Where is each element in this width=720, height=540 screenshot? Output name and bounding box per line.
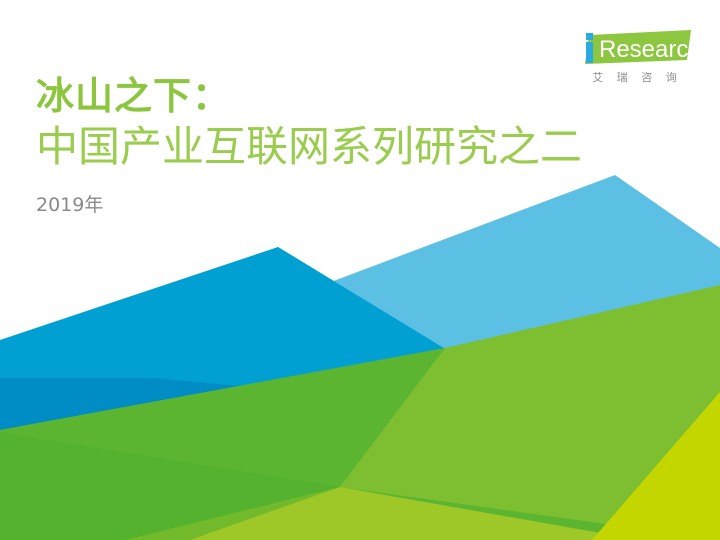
slide-root: Research 艾 瑞 咨 询 冰山之下： 中国产业互联网系列研究之二 201… (0, 0, 720, 540)
logo-wordmark: Research (599, 36, 693, 63)
page-title-line-2: 中国产业互联网系列研究之二 (36, 120, 676, 174)
page-title-line-1: 冰山之下： (36, 72, 676, 120)
publication-year: 2019年 (36, 190, 103, 217)
logo-i-dot (586, 33, 593, 40)
logo-mark: Research (575, 30, 693, 66)
logo-i-stem (586, 42, 593, 63)
slide-content: Research 艾 瑞 咨 询 冰山之下： 中国产业互联网系列研究之二 201… (0, 0, 720, 540)
title-block: 冰山之下： 中国产业互联网系列研究之二 (36, 72, 676, 174)
